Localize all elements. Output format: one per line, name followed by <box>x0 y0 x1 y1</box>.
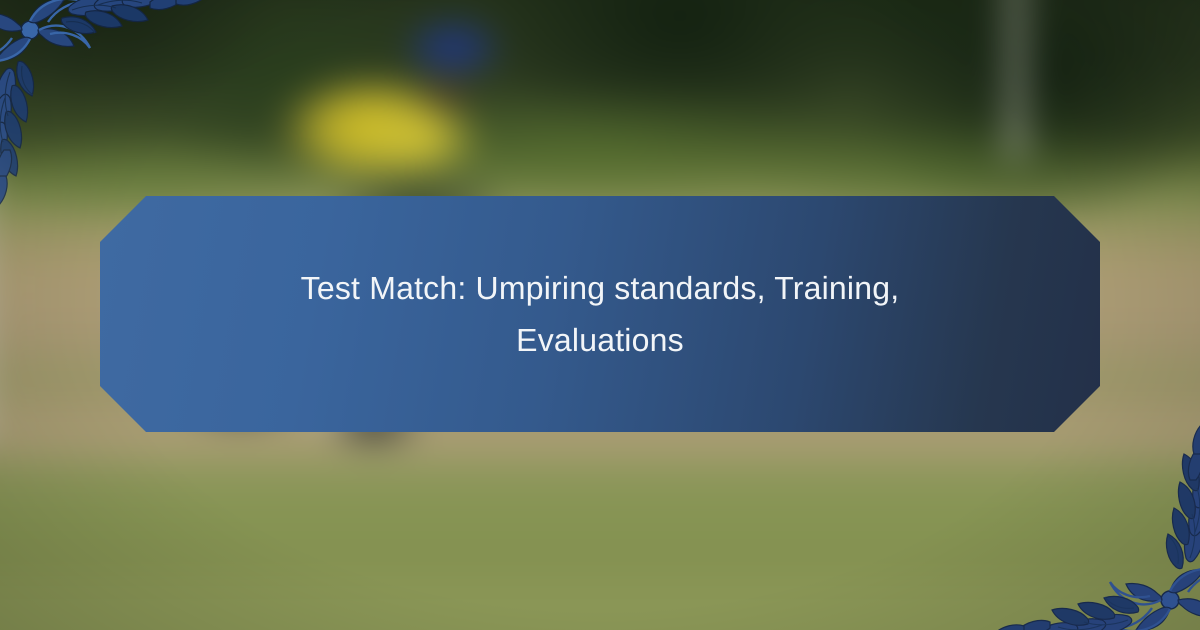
social-card-canvas: Test Match: Umpiring standards, Training… <box>0 0 1200 630</box>
title-banner: Test Match: Umpiring standards, Training… <box>100 196 1100 432</box>
page-title: Test Match: Umpiring standards, Training… <box>220 262 980 366</box>
